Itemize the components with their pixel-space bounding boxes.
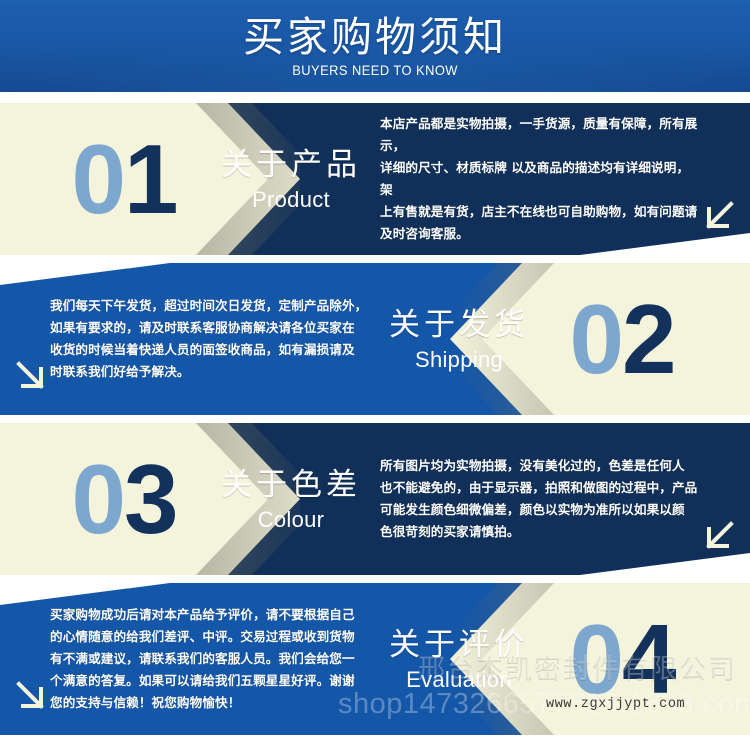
section-04-body: 买家购物成功后请对本产品给予评价，请不要根据自己 的心情随意的给我们差评、中评。… <box>50 583 390 735</box>
section-04-title-en: Evaluation <box>406 667 512 693</box>
section-04-body-line: 买家购物成功后请对本产品给予评价，请不要根据自己 <box>50 604 355 626</box>
section-01-digit-second: 1 <box>124 130 177 228</box>
header-title-group: 买家购物须知 BUYERS NEED TO KNOW <box>0 0 750 92</box>
arrow-down-left-icon <box>702 199 736 233</box>
section-04-title-group: 关于评价 Evaluation <box>364 583 554 735</box>
arrow-down-right-icon <box>14 679 48 713</box>
section-03-digit-first: 0 <box>71 450 124 548</box>
section-04-digit-second: 4 <box>622 610 675 708</box>
section-03-body-line: 所有图片均为实物拍摄，没有美化过的，色差是任何人 <box>380 455 697 477</box>
section-01-title-cn: 关于产品 <box>221 146 361 184</box>
section-03: 03 关于色差 Colour 所有图片均为实物拍摄，没有美化过的，色差是任何人 … <box>0 423 750 575</box>
page-subtitle: BUYERS NEED TO KNOW <box>292 62 458 79</box>
section-01-body-line: 本店产品都是实物拍摄，一手货源，质量有保障，所有展示， <box>380 113 698 157</box>
section-04-digit-first: 0 <box>569 610 622 708</box>
arrow-down-right-icon <box>14 359 48 393</box>
header-divider <box>0 92 750 103</box>
section-02-digit-second: 2 <box>622 290 675 388</box>
section-02-body-line: 收货的时候当着快递人员的面签收商品，如有漏损请及 <box>50 339 367 361</box>
section-04-title-cn: 关于评价 <box>389 626 529 664</box>
section-04: 04 关于评价 Evaluation 买家购物成功后请对本产品给予评价，请不要根… <box>0 583 750 735</box>
section-02-title-group: 关于发货 Shipping <box>364 263 554 415</box>
section-01-body-line: 及时咨询客服。 <box>380 223 698 245</box>
section-02-title-en: Shipping <box>415 347 503 373</box>
section-01-digit-first: 0 <box>71 130 124 228</box>
buyer-notice-banner: 买家购物须知 BUYERS NEED TO KNOW 01 关于产品 Produ… <box>0 0 750 738</box>
section-03-title-group: 关于色差 Colour <box>196 423 386 575</box>
section-03-title-cn: 关于色差 <box>221 466 361 504</box>
section-02-body-line: 时联系我们好给予解决。 <box>50 361 367 383</box>
section-02-body: 我们每天下午发货，超过时间次日发货，定制产品除外， 如果有要求的，请及时联系客服… <box>50 263 380 415</box>
section-01: 01 关于产品 Product 本店产品都是实物拍摄，一手货源，质量有保障，所有… <box>0 103 750 255</box>
page-header: 买家购物须知 BUYERS NEED TO KNOW <box>0 0 750 92</box>
section-03-body-line: 也不能避免的，由于显示器，拍照和做图的过程中，产品 <box>380 477 697 499</box>
section-02-digit-first: 0 <box>569 290 622 388</box>
section-01-title-group: 关于产品 Product <box>196 103 386 255</box>
arrow-down-left-icon <box>702 519 736 553</box>
section-04-body-line: 有不满或建议，请联系我们的客服人员。我们会给您一 <box>50 648 355 670</box>
section-03-body-line: 色很苛刻的买家请慎拍。 <box>380 521 697 543</box>
section-03-body: 所有图片均为实物拍摄，没有美化过的，色差是任何人 也不能避免的，由于显示器，拍照… <box>380 423 698 575</box>
section-02-title-cn: 关于发货 <box>389 306 529 344</box>
section-01-title-en: Product <box>252 187 330 213</box>
section-02: 02 关于发货 Shipping 我们每天下午发货，超过时间次日发货，定制产品除… <box>0 263 750 415</box>
section-03-digit-second: 3 <box>124 450 177 548</box>
page-title: 买家购物须知 <box>243 14 507 60</box>
section-02-body-line: 如果有要求的，请及时联系客服协商解决请各位买家在 <box>50 317 367 339</box>
section-01-body-line: 详细的尺寸、材质标牌 以及商品的描述均有详细说明，架 <box>380 157 698 201</box>
section-01-body: 本店产品都是实物拍摄，一手货源，质量有保障，所有展示， 详细的尺寸、材质标牌 以… <box>380 103 698 255</box>
section-04-body-line: 的心情随意的给我们差评、中评。交易过程或收到货物 <box>50 626 355 648</box>
section-04-body-line: 您的支持与信赖！祝您购物愉快！ <box>50 692 355 714</box>
section-03-title-en: Colour <box>258 507 325 533</box>
section-03-body-line: 可能发生颜色细微偏差，颜色以实物为准所以如果以颜 <box>380 499 697 521</box>
section-02-body-line: 我们每天下午发货，超过时间次日发货，定制产品除外， <box>50 295 367 317</box>
section-01-body-line: 上有售就是有货，店主不在线也可自助购物，如有问题请 <box>380 201 698 223</box>
section-04-body-line: 个满意的答复。如果可以请给我们五颗星星好评。谢谢 <box>50 670 355 692</box>
